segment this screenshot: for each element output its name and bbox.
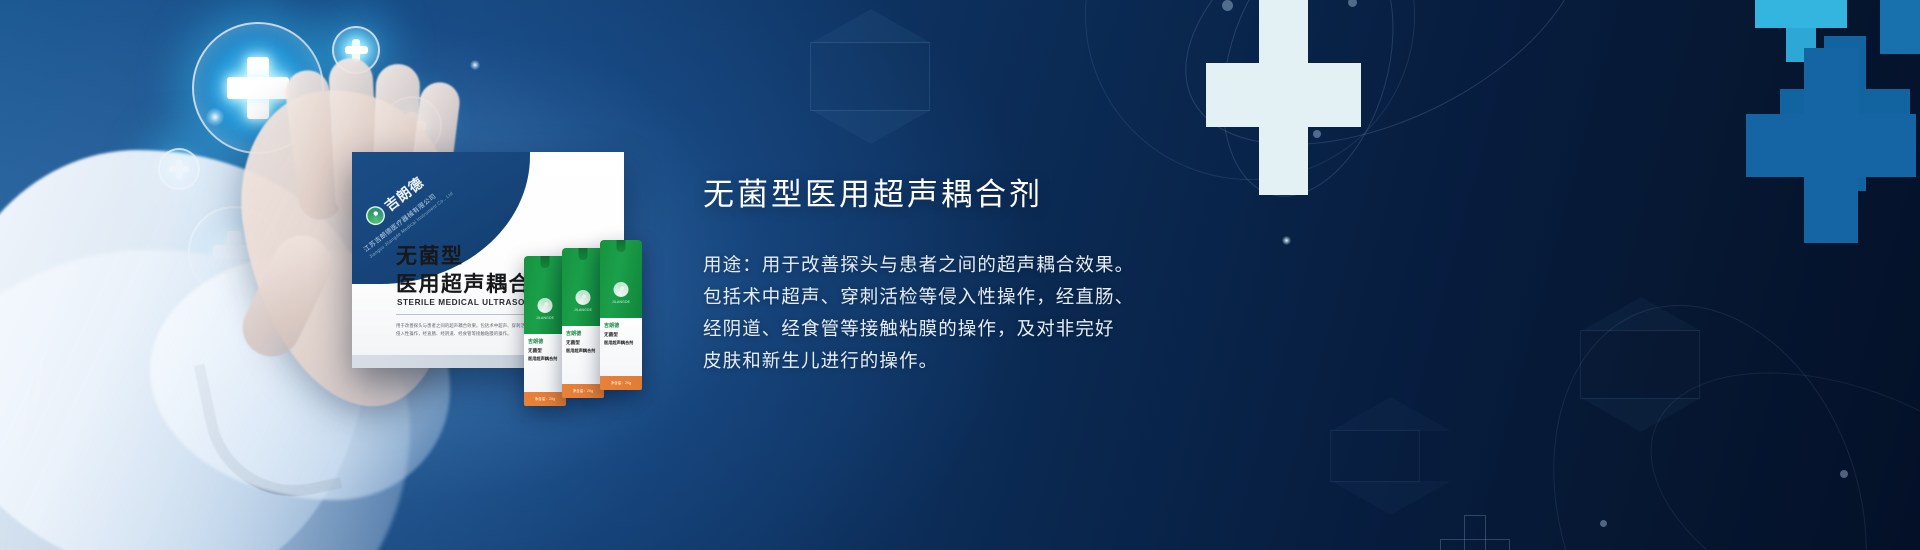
sachet-line2: 医用超声耦合剂	[566, 348, 595, 354]
node-dot	[1840, 470, 1848, 478]
cross-icon-bottom-outline	[1440, 515, 1510, 550]
sachet-logo-icon	[576, 290, 591, 305]
sachet-line2: 医用超声耦合剂	[604, 340, 633, 346]
sachet-notch	[617, 240, 626, 252]
orbit-ellipse	[1612, 320, 1920, 550]
sachet-logo-text: JILANGDE	[600, 300, 642, 304]
sachet-net-weight: 净含量：20g	[600, 376, 642, 390]
node-dot	[1313, 130, 1321, 138]
node-dot	[1348, 0, 1357, 7]
product-package-group: 吉朗德 江苏吉朗德医疗器械有限公司 Jiangsu Jilangde Medic…	[352, 152, 672, 420]
sachet-net-weight: 净含量：20g	[562, 384, 604, 398]
cross-icon-medium-blue	[1780, 36, 1910, 191]
sachet-group: JILANGDE 吉朗德 无菌型 医用超声耦合剂 净含量：20g JILANGD…	[524, 240, 672, 405]
sachet-packet: JILANGDE 吉朗德 无菌型 医用超声耦合剂 净含量：20g	[524, 256, 566, 406]
sachet-logo-icon	[538, 298, 553, 313]
orbit-ellipse	[1194, 0, 1422, 217]
sachet-notch	[579, 248, 588, 260]
sparkle	[1282, 236, 1291, 245]
sachet-line2: 医用超声耦合剂	[528, 356, 557, 362]
sachet-line1: 无菌型	[566, 340, 580, 346]
hexagon-outline	[810, 42, 930, 111]
hexagon-outline	[1330, 430, 1420, 482]
description-line-4: 皮肤和新生儿进行的操作。	[703, 345, 1223, 377]
description-line-1: 用途：用于改善探头与患者之间的超声耦合效果。	[703, 249, 1223, 281]
cross-icon-square-accent	[1880, 0, 1920, 54]
copy-block: 无菌型医用超声耦合剂 用途：用于改善探头与患者之间的超声耦合效果。 包括术中超声…	[703, 176, 1223, 376]
sachet-brand: 吉朗德	[604, 322, 619, 329]
banner-description: 用途：用于改善探头与患者之间的超声耦合效果。 包括术中超声、穿刺活检等侵入性操作…	[703, 249, 1223, 376]
sachet-logo-text: JILANGDE	[562, 308, 604, 312]
sachet-packet: JILANGDE 吉朗德 无菌型 医用超声耦合剂 净含量：20g	[562, 248, 604, 398]
node-dot	[1600, 520, 1607, 527]
node-dot	[1208, 65, 1221, 78]
sachet-logo-icon	[614, 282, 629, 297]
sachet-packet: JILANGDE 吉朗德 无菌型 医用超声耦合剂 净含量：20g	[600, 240, 642, 390]
cross-icon-large-pale	[1206, 0, 1361, 195]
sachet-line1: 无菌型	[528, 348, 542, 354]
sachet-brand: 吉朗德	[528, 338, 543, 345]
medical-product-banner: 吉朗德 江苏吉朗德医疗器械有限公司 Jiangsu Jilangde Medic…	[0, 0, 1920, 550]
sachet-logo-text: JILANGDE	[524, 316, 566, 320]
description-line-3: 经阴道、经食管等接触粘膜的操作，及对非完好	[703, 313, 1223, 345]
cross-icon-large-blue	[1746, 48, 1916, 243]
sachet-brand: 吉朗德	[566, 330, 581, 337]
banner-headline: 无菌型医用超声耦合剂	[703, 176, 1223, 213]
orbit-ellipse	[1502, 264, 1917, 550]
sachet-line1: 无菌型	[604, 332, 618, 338]
node-dot	[1222, 0, 1233, 11]
box-title-line1: 无菌型	[396, 240, 464, 270]
cross-icon-small-cyan	[1755, 0, 1847, 62]
sachet-notch	[541, 256, 550, 268]
sachet-net-weight: 净含量：20g	[524, 392, 566, 406]
description-line-2: 包括术中超声、穿刺活检等侵入性操作，经直肠、	[703, 281, 1223, 313]
orbit-ellipse	[1141, 0, 1628, 203]
hexagon-outline	[1580, 330, 1700, 399]
